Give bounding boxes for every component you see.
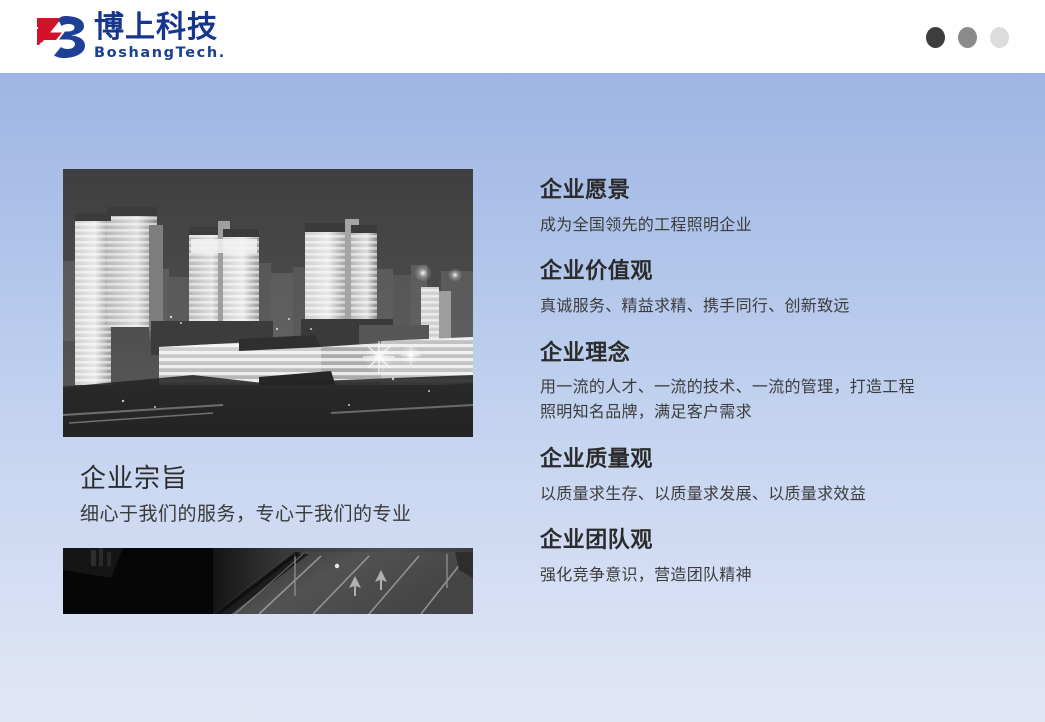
- carousel-indicator[interactable]: [926, 27, 1009, 48]
- boshang-logo-mark-icon: [36, 14, 88, 60]
- left-column: 企业宗旨 细心于我们的服务，专心于我们的专业: [63, 169, 475, 614]
- purpose-description: 细心于我们的服务，专心于我们的专业: [80, 501, 475, 529]
- value-item-team: 企业团队观 强化竞争意识，营造团队精神: [540, 527, 960, 587]
- purpose-title: 企业宗旨: [80, 463, 475, 496]
- value-description: 成为全国领先的工程照明企业: [540, 213, 928, 238]
- road-photo: [63, 548, 473, 614]
- carousel-dot-2[interactable]: [958, 27, 977, 48]
- value-title: 企业团队观: [540, 527, 960, 556]
- cityscape-photo: [63, 169, 473, 437]
- cityscape-photo-image: [63, 169, 473, 437]
- content-stage: 企业宗旨 细心于我们的服务，专心于我们的专业: [0, 73, 1045, 722]
- site-header: 博上科技 BoshangTech.: [0, 0, 1045, 73]
- value-description: 以质量求生存、以质量求发展、以质量求效益: [540, 482, 928, 507]
- value-title: 企业愿景: [540, 177, 960, 206]
- brand-logo[interactable]: 博上科技 BoshangTech.: [36, 10, 226, 64]
- logo-english-name: BoshangTech.: [94, 46, 226, 61]
- logo-wordmark: 博上科技 BoshangTech.: [94, 13, 226, 60]
- purpose-block: 企业宗旨 细心于我们的服务，专心于我们的专业: [80, 463, 475, 528]
- value-item-philosophy: 企业理念 用一流的人才、一流的技术、一流的管理，打造工程照明知名品牌，满足客户需…: [540, 340, 960, 425]
- value-description: 强化竞争意识，营造团队精神: [540, 563, 928, 588]
- carousel-dot-1[interactable]: [926, 27, 945, 48]
- value-description: 真诚服务、精益求精、携手同行、创新致远: [540, 294, 928, 319]
- value-title: 企业理念: [540, 340, 960, 369]
- value-item-values: 企业价值观 真诚服务、精益求精、携手同行、创新致远: [540, 258, 960, 318]
- value-item-vision: 企业愿景 成为全国领先的工程照明企业: [540, 177, 960, 237]
- carousel-dot-3[interactable]: [990, 27, 1009, 48]
- value-item-quality: 企业质量观 以质量求生存、以质量求发展、以质量求效益: [540, 446, 960, 506]
- value-title: 企业质量观: [540, 446, 960, 475]
- right-column: 企业愿景 成为全国领先的工程照明企业 企业价值观 真诚服务、精益求精、携手同行、…: [540, 177, 960, 588]
- value-title: 企业价值观: [540, 258, 960, 287]
- page-root: 博上科技 BoshangTech.: [0, 0, 1045, 722]
- road-photo-image: [63, 548, 473, 614]
- logo-chinese-name: 博上科技: [94, 13, 226, 44]
- value-description: 用一流的人才、一流的技术、一流的管理，打造工程照明知名品牌，满足客户需求: [540, 375, 928, 425]
